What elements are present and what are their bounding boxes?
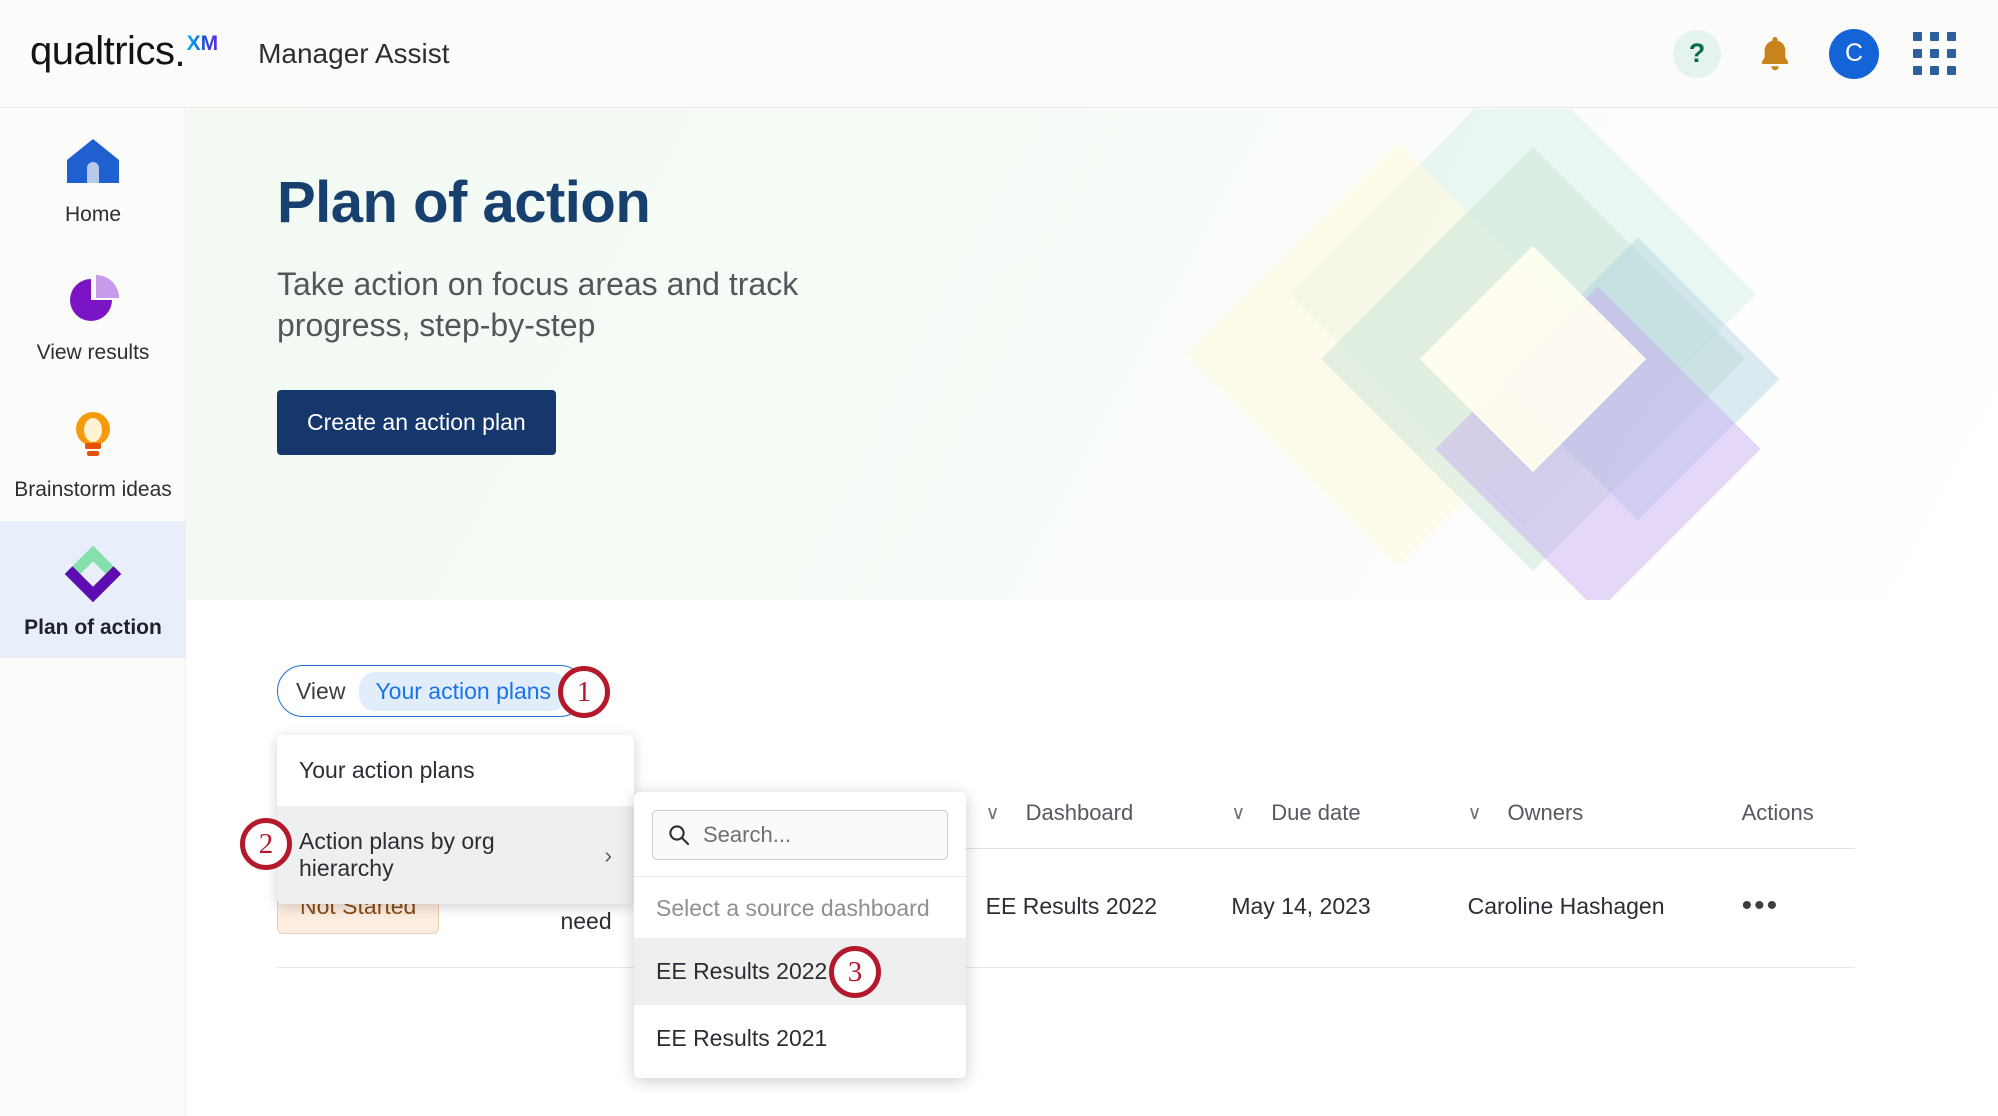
top-header: qualtrics . XM Manager Assist ? C xyxy=(0,0,1998,108)
sidebar-item-label: Plan of action xyxy=(10,615,176,641)
grid-dot xyxy=(1913,32,1922,41)
user-avatar[interactable]: C xyxy=(1829,29,1879,79)
page-subtitle: Take action on focus areas and track pro… xyxy=(277,264,917,346)
submenu-search-wrapper: Search... xyxy=(634,792,966,876)
chevron-down-icon: ∨ xyxy=(986,802,1000,825)
logo-wordmark: qualtrics xyxy=(30,31,174,71)
submenu-item-ee-results-2022[interactable]: EE Results 2022 xyxy=(634,938,966,1005)
help-icon[interactable]: ? xyxy=(1673,30,1721,78)
dropdown-item-your-action-plans[interactable]: Your action plans xyxy=(277,735,634,806)
app-title: Manager Assist xyxy=(258,38,449,70)
app-root: qualtrics . XM Manager Assist ? C xyxy=(0,0,1998,1116)
page-title: Plan of action xyxy=(277,169,1998,236)
chevron-down-icon: ∨ xyxy=(1468,802,1482,825)
annotation-badge-1: 1 xyxy=(558,666,610,718)
hero-banner: Plan of action Take action on focus area… xyxy=(187,109,1998,600)
row-dashboard-cell: EE Results 2022 xyxy=(986,893,1232,920)
annotation-badge-2: 2 xyxy=(240,818,292,870)
avatar-initial: C xyxy=(1845,39,1863,68)
search-placeholder: Search... xyxy=(703,822,791,848)
sidebar-item-label: View results xyxy=(10,340,176,366)
help-glyph: ? xyxy=(1689,38,1706,69)
table-header-label: Dashboard xyxy=(1026,800,1134,826)
submenu-item-ee-results-2021[interactable]: EE Results 2021 xyxy=(634,1005,966,1072)
search-icon xyxy=(667,823,691,847)
logo-xm-superscript: XM xyxy=(187,33,219,54)
row-owners-cell: Caroline Hashagen xyxy=(1468,893,1742,920)
submenu-item-label: EE Results 2022 xyxy=(656,958,827,984)
view-dropdown-menu: Your action plans Action plans by org hi… xyxy=(277,735,634,904)
diamond-check-icon xyxy=(10,543,176,605)
notification-bell-icon[interactable] xyxy=(1755,33,1795,75)
lightbulb-icon xyxy=(10,405,176,467)
sidebar-item-brainstorm-ideas[interactable]: Brainstorm ideas xyxy=(0,383,186,521)
row-actions-cell: ••• xyxy=(1742,889,1855,923)
pie-chart-icon xyxy=(10,268,176,330)
table-header-actions: Actions xyxy=(1742,800,1855,826)
table-header-dashboard[interactable]: ∨ Dashboard xyxy=(986,800,1232,826)
description-line-2: need xyxy=(560,908,611,934)
logo-period: . xyxy=(174,31,185,76)
table-header-label: Owners xyxy=(1508,800,1584,826)
sidebar-item-label: Brainstorm ideas xyxy=(10,477,176,503)
table-header-due-date[interactable]: ∨ Due date xyxy=(1231,800,1467,826)
sidebar: Home View results Brainstorm ideas xyxy=(0,108,186,1116)
qualtrics-logo[interactable]: qualtrics . XM xyxy=(30,31,218,76)
grid-dot xyxy=(1930,49,1939,58)
table-header-label: Due date xyxy=(1271,800,1360,826)
sidebar-item-plan-of-action[interactable]: Plan of action xyxy=(0,521,186,659)
sidebar-item-home[interactable]: Home xyxy=(0,108,186,246)
grid-dot xyxy=(1947,32,1956,41)
grid-dot xyxy=(1930,66,1939,75)
grid-dot xyxy=(1913,66,1922,75)
dropdown-item-label: Your action plans xyxy=(299,757,475,784)
overflow-menu-icon[interactable]: ••• xyxy=(1742,889,1780,922)
view-filter-label: View xyxy=(296,678,345,705)
grid-dot xyxy=(1947,49,1956,58)
source-dashboard-submenu: Search... Select a source dashboard EE R… xyxy=(634,792,966,1078)
grid-dot xyxy=(1913,49,1922,58)
header-actions: ? C xyxy=(1673,29,1956,79)
sidebar-item-label: Home xyxy=(10,202,176,228)
annotation-badge-3: 3 xyxy=(829,946,881,998)
chevron-down-icon: ∨ xyxy=(1231,802,1245,825)
chevron-right-icon: › xyxy=(604,842,612,869)
grid-dot xyxy=(1930,32,1939,41)
table-header-label: Actions xyxy=(1742,800,1814,826)
app-grid-icon[interactable] xyxy=(1913,32,1956,75)
submenu-section-header: Select a source dashboard xyxy=(634,877,966,938)
view-filter-pill[interactable]: View Your action plans xyxy=(277,665,586,717)
home-icon xyxy=(10,130,176,192)
view-filter-value-chip: Your action plans xyxy=(359,672,567,711)
create-action-plan-button[interactable]: Create an action plan xyxy=(277,390,556,455)
dropdown-item-label: Action plans by org hierarchy xyxy=(299,828,588,882)
dropdown-item-org-hierarchy[interactable]: Action plans by org hierarchy › xyxy=(277,806,634,904)
row-due-date-cell: May 14, 2023 xyxy=(1231,893,1467,920)
search-input[interactable]: Search... xyxy=(652,810,948,860)
submenu-item-label: EE Results 2021 xyxy=(656,1025,827,1051)
grid-dot xyxy=(1947,66,1956,75)
sidebar-item-view-results[interactable]: View results xyxy=(0,246,186,384)
table-header-owners[interactable]: ∨ Owners xyxy=(1468,800,1742,826)
